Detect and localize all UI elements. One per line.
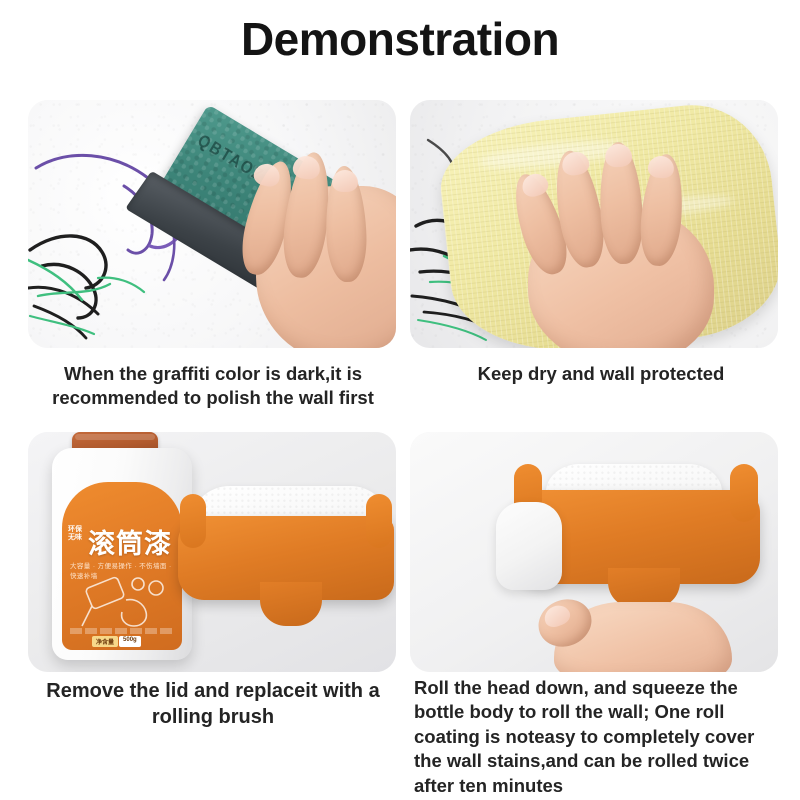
badge-left-text: 净含量 — [92, 636, 118, 647]
demonstration-page: Demonstration — [0, 0, 800, 800]
panel-2-image — [410, 100, 778, 348]
label-side-text: 环保 无味 — [68, 526, 86, 542]
panel-2-caption: Keep dry and wall protected — [412, 362, 790, 386]
fingernail — [604, 143, 632, 167]
roller-ear-left — [180, 494, 206, 548]
panel-4-caption: Roll the head down, and squeeze the bott… — [414, 676, 786, 798]
squeezed-bottle-body — [496, 502, 562, 590]
panel-3-caption: Remove the lid and replaceit with a roll… — [18, 678, 408, 731]
roller-ear-right — [366, 494, 392, 548]
hand-squeezing-bottle — [532, 580, 738, 672]
fingernail — [332, 170, 358, 192]
hand-wiping-cloth — [502, 128, 742, 348]
paint-bottle: 环保 无味 滚筒漆 大容量 · 方便易操作 · 不伤墙面 · 快速补墙 — [52, 448, 192, 660]
label-main-text: 滚筒漆 — [88, 522, 172, 561]
page-title: Demonstration — [0, 12, 800, 66]
panel-3-image: 环保 无味 滚筒漆 大容量 · 方便易操作 · 不伤墙面 · 快速补墙 — [28, 432, 396, 672]
roller-ear-right — [730, 464, 758, 522]
label-illustration — [70, 574, 178, 634]
roller-neck — [260, 582, 322, 626]
panel-1-image: QBTAOZC JL 15 — [28, 100, 396, 348]
roller-brush-head — [178, 486, 394, 634]
panel-1-caption: When the graffiti color is dark,it is re… — [14, 362, 412, 411]
badge-right-text: 500g — [119, 636, 141, 647]
hand-holding-block — [212, 152, 396, 348]
label-weight-badge: 净含量 500g — [92, 636, 141, 647]
panel-4-image — [410, 432, 778, 672]
bottle-label: 环保 无味 滚筒漆 大容量 · 方便易操作 · 不伤墙面 · 快速补墙 — [62, 482, 182, 650]
label-footer-rule — [70, 628, 174, 634]
